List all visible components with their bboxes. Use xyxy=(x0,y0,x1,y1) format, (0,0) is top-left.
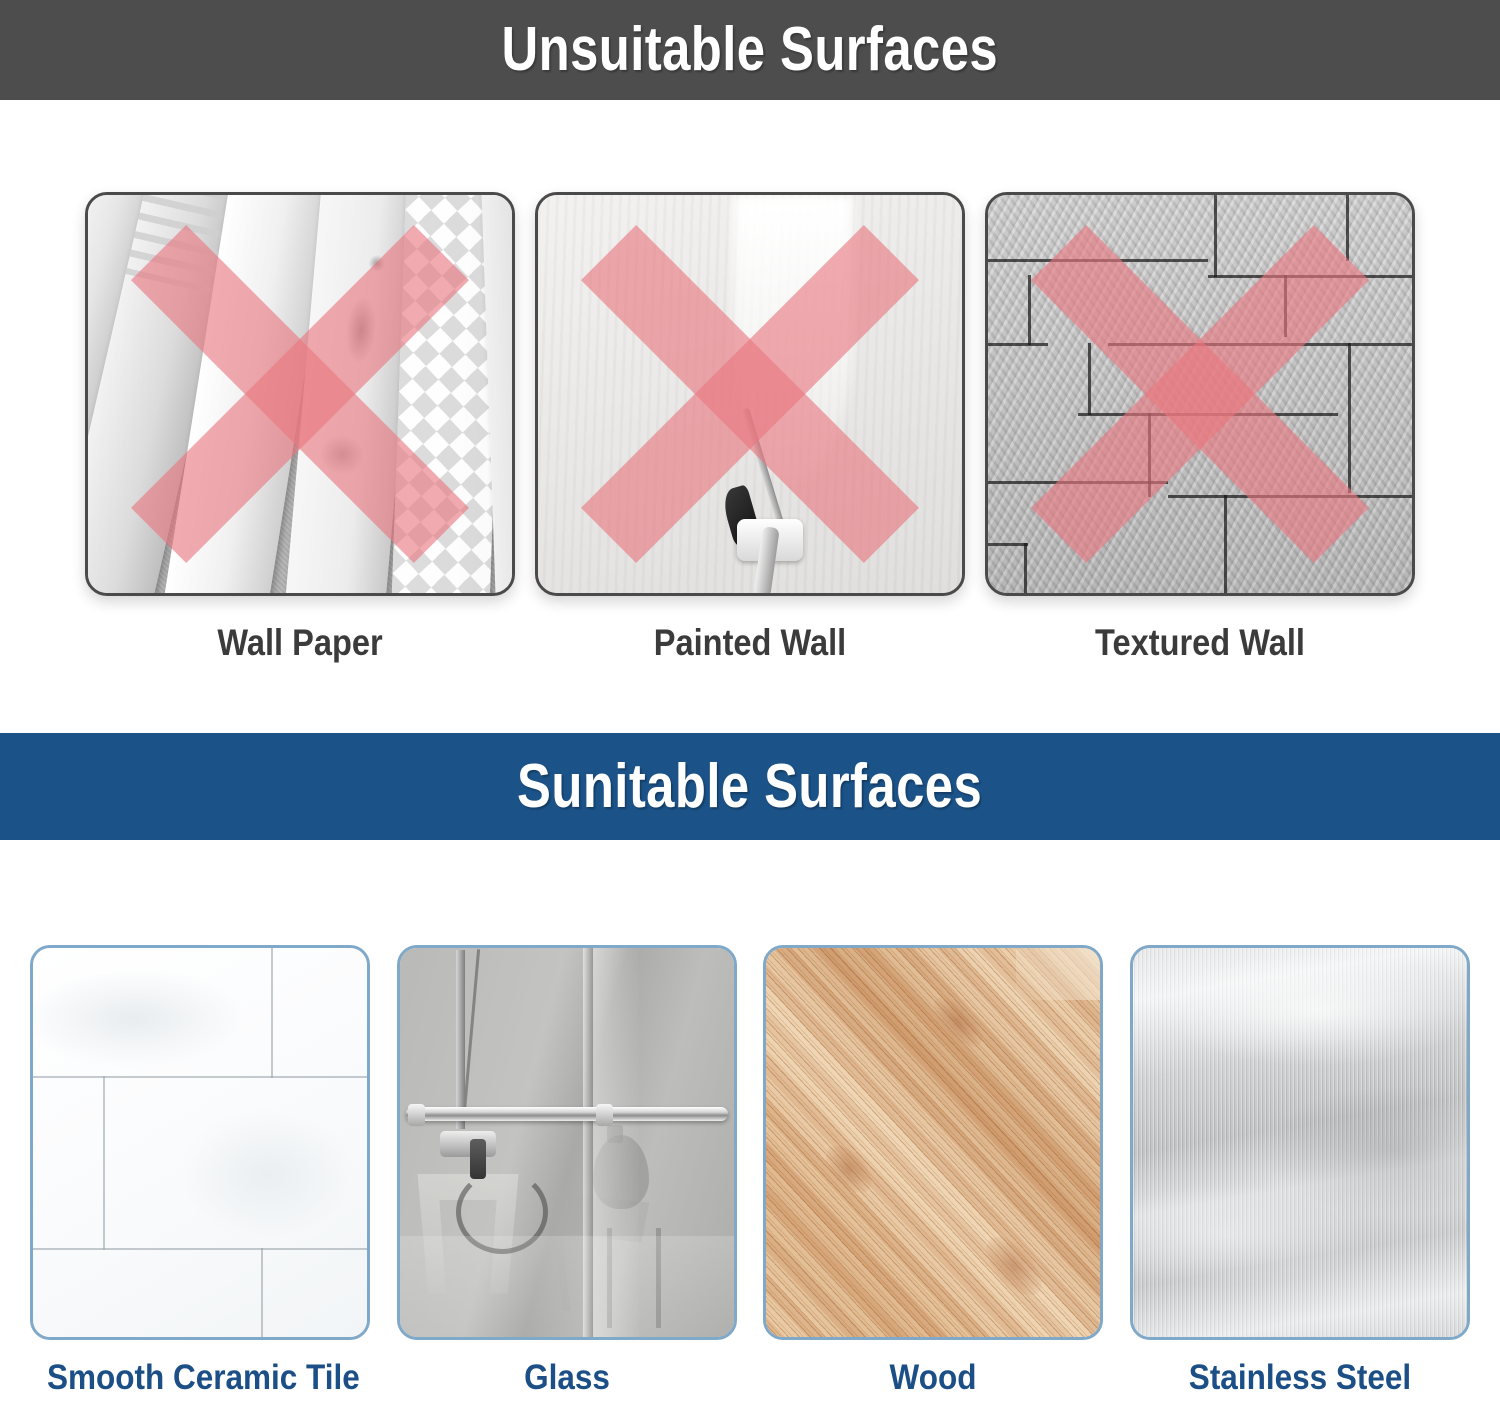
suitable-item-stainless-steel: Stainless Steel xyxy=(1130,945,1470,1398)
suitable-banner-title: Sunitable Surfaces xyxy=(517,756,982,818)
unsuitable-section: Wall Paper Painted Wall xyxy=(0,100,1500,733)
unsuitable-banner: Unsuitable Surfaces xyxy=(0,0,1500,100)
wood-texture xyxy=(766,948,1100,1337)
suitable-item-wood: Wood xyxy=(763,945,1103,1398)
glass-texture xyxy=(400,948,734,1337)
caption-glass: Glass xyxy=(414,1358,720,1398)
caption-textured-wall: Textured Wall xyxy=(1011,622,1389,664)
suitable-section: Smooth Ceramic Tile xyxy=(0,840,1500,1402)
steel-texture xyxy=(1133,948,1467,1337)
unsuitable-item-textured-wall: Textured Wall xyxy=(985,192,1415,664)
wallpaper-texture xyxy=(88,195,512,593)
unsuitable-row: Wall Paper Painted Wall xyxy=(85,192,1415,664)
painted-wall-texture xyxy=(538,195,962,593)
wallpaper-image xyxy=(85,192,515,596)
stone-wall-texture xyxy=(988,195,1412,593)
suitable-item-glass: Glass xyxy=(397,945,737,1398)
textured-wall-image xyxy=(985,192,1415,596)
suitable-banner: Sunitable Surfaces xyxy=(0,733,1500,840)
unsuitable-item-painted-wall: Painted Wall xyxy=(535,192,965,664)
stainless-steel-image xyxy=(1130,945,1470,1340)
caption-ceramic-tile: Smooth Ceramic Tile xyxy=(47,1358,353,1398)
painted-wall-image xyxy=(535,192,965,596)
caption-stainless-steel: Stainless Steel xyxy=(1147,1358,1453,1398)
ceramic-texture xyxy=(33,948,367,1337)
caption-wall-paper: Wall Paper xyxy=(111,622,489,664)
unsuitable-item-wall-paper: Wall Paper xyxy=(85,192,515,664)
suitable-row: Smooth Ceramic Tile xyxy=(30,945,1470,1398)
suitable-item-ceramic-tile: Smooth Ceramic Tile xyxy=(30,945,370,1398)
caption-painted-wall: Painted Wall xyxy=(561,622,939,664)
wood-image xyxy=(763,945,1103,1340)
caption-wood: Wood xyxy=(780,1358,1086,1398)
glass-image xyxy=(397,945,737,1340)
unsuitable-banner-title: Unsuitable Surfaces xyxy=(502,19,999,81)
ceramic-tile-image xyxy=(30,945,370,1340)
